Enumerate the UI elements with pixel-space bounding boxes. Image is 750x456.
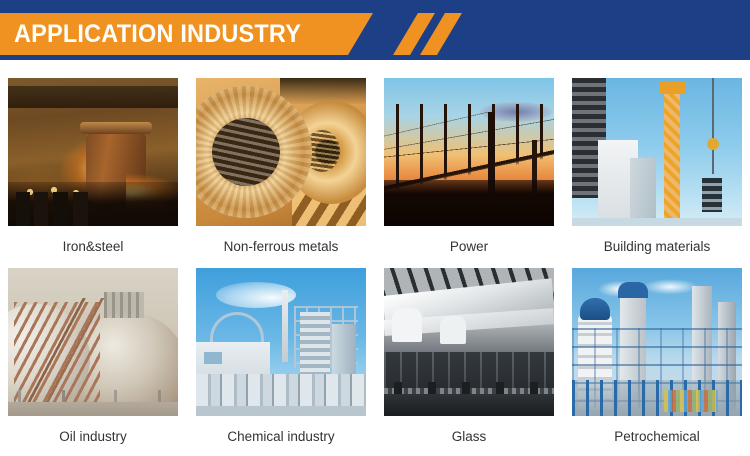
industry-card[interactable]: Petrochemical: [572, 268, 742, 456]
section-title: APPLICATION INDUSTRY: [14, 13, 301, 55]
photo-detail: [8, 402, 178, 416]
photo-detail: [104, 292, 144, 318]
non-ferrous-metal-coils-photo: [196, 78, 366, 226]
photo-detail: [660, 82, 686, 94]
industry-card[interactable]: Oil industry: [8, 268, 178, 456]
photo-detail: [712, 78, 714, 174]
industry-card[interactable]: Chemical industry: [196, 268, 366, 456]
photo-detail: [664, 88, 680, 226]
photo-detail: [196, 406, 366, 416]
industry-card-label: Petrochemical: [572, 416, 742, 456]
photo-detail: [702, 178, 722, 212]
industry-card[interactable]: Non-ferrous metals: [196, 78, 366, 268]
industry-card-label: Power: [384, 226, 554, 268]
industry-card-label: Chemical industry: [196, 416, 366, 456]
photo-detail: [664, 390, 718, 412]
iron-and-steel-foundry-photo: [8, 78, 178, 226]
chemical-plant-photo: [196, 268, 366, 416]
photo-detail: [384, 180, 554, 226]
industry-card-label: Iron&steel: [8, 226, 178, 268]
photo-detail: [212, 118, 280, 186]
industry-card-label: Non-ferrous metals: [196, 226, 366, 268]
photo-detail: [16, 192, 116, 226]
photo-detail: [210, 312, 264, 346]
glass-production-line-photo: [384, 268, 554, 416]
photo-detail: [80, 122, 152, 134]
construction-crane-photo: [572, 78, 742, 226]
photo-detail: [440, 316, 466, 344]
industry-card[interactable]: Power: [384, 78, 554, 268]
industry-card-label: Glass: [384, 416, 554, 456]
photo-detail: [580, 298, 610, 320]
photo-detail: [204, 352, 222, 364]
industry-card[interactable]: Building materials: [572, 78, 742, 268]
industry-card-label: Building materials: [572, 226, 742, 268]
photo-detail: [630, 158, 656, 226]
section-header-bar: APPLICATION INDUSTRY: [0, 0, 750, 60]
industry-card[interactable]: Iron&steel: [8, 78, 178, 268]
photo-detail: [392, 308, 422, 342]
petrochemical-refinery-photo: [572, 268, 742, 416]
photo-detail: [707, 138, 719, 150]
photo-detail: [8, 86, 178, 108]
industry-card-label: Oil industry: [8, 416, 178, 456]
photo-detail: [282, 290, 288, 362]
photo-detail: [384, 394, 554, 416]
oil-storage-spheres-photo: [8, 268, 178, 416]
power-transmission-towers-photo: [384, 78, 554, 226]
industry-card[interactable]: Glass: [384, 268, 554, 456]
photo-detail: [572, 218, 742, 226]
application-industry-section: APPLICATION INDUSTRY Iron&steel: [0, 0, 750, 456]
photo-detail: [618, 282, 648, 298]
industry-card-grid: Iron&steel Non-ferrous metals: [8, 78, 742, 456]
